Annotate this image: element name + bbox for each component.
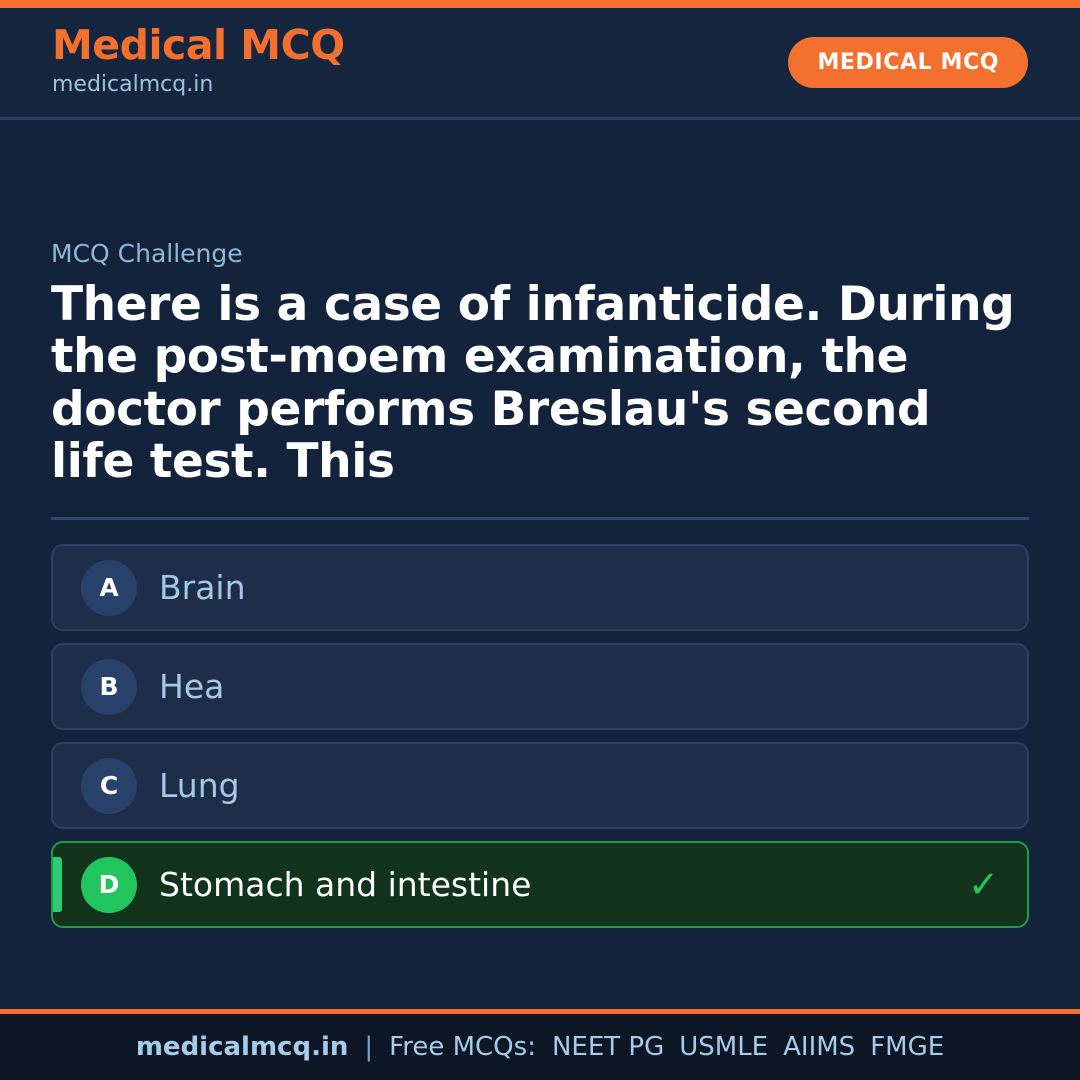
option-label: Lung: [159, 766, 954, 806]
footer-site-link[interactable]: medicalmcq.in: [136, 1032, 349, 1062]
question-panel: MCQ Challenge There is a case of infanti…: [0, 120, 1080, 1009]
footer-exam-usmle[interactable]: USMLE: [679, 1032, 768, 1062]
option-row-a[interactable]: A Brain ✓: [51, 544, 1029, 631]
option-letter-badge: B: [81, 659, 137, 715]
footer-exam-neetpg[interactable]: NEET PG: [552, 1032, 664, 1062]
options-list: A Brain ✓ B Hea ✓ C Lung ✓ D Stomach and…: [51, 544, 1029, 928]
question-text: There is a case of infanticide. During t…: [51, 279, 1029, 490]
mcq-card: Medical MCQ medicalmcq.in MEDICAL MCQ MC…: [0, 0, 1080, 1080]
option-label: Brain: [159, 568, 954, 608]
option-label: Hea: [159, 667, 954, 707]
top-accent-strip: [0, 0, 1080, 8]
eyebrow-label: MCQ Challenge: [51, 238, 1029, 271]
option-label: Stomach and intestine: [159, 865, 954, 905]
footer-separator: |: [364, 1032, 373, 1062]
brand: Medical MCQ medicalmcq.in: [52, 24, 345, 101]
brand-subtitle: medicalmcq.in: [52, 70, 345, 101]
header-badge[interactable]: MEDICAL MCQ: [788, 37, 1028, 88]
option-letter-badge: C: [81, 758, 137, 814]
footer-exam-fmge[interactable]: FMGE: [870, 1032, 944, 1062]
option-row-d[interactable]: D Stomach and intestine ✓: [51, 841, 1029, 928]
option-letter-badge: D: [81, 857, 137, 913]
footer-bar: medicalmcq.in | Free MCQs: NEET PG USMLE…: [0, 1014, 1080, 1080]
footer-exam-list: NEET PG USMLE AIIMS FMGE: [552, 1032, 944, 1062]
option-row-b[interactable]: B Hea ✓: [51, 643, 1029, 730]
footer-label: Free MCQs:: [389, 1032, 536, 1062]
check-icon: ✓: [968, 866, 999, 903]
option-row-c[interactable]: C Lung ✓: [51, 742, 1029, 829]
brand-title: Medical MCQ: [52, 24, 345, 67]
section-divider: [51, 517, 1029, 520]
option-letter-badge: A: [81, 560, 137, 616]
header-bar: Medical MCQ medicalmcq.in MEDICAL MCQ: [0, 8, 1080, 120]
footer-exam-aiims[interactable]: AIIMS: [783, 1032, 855, 1062]
